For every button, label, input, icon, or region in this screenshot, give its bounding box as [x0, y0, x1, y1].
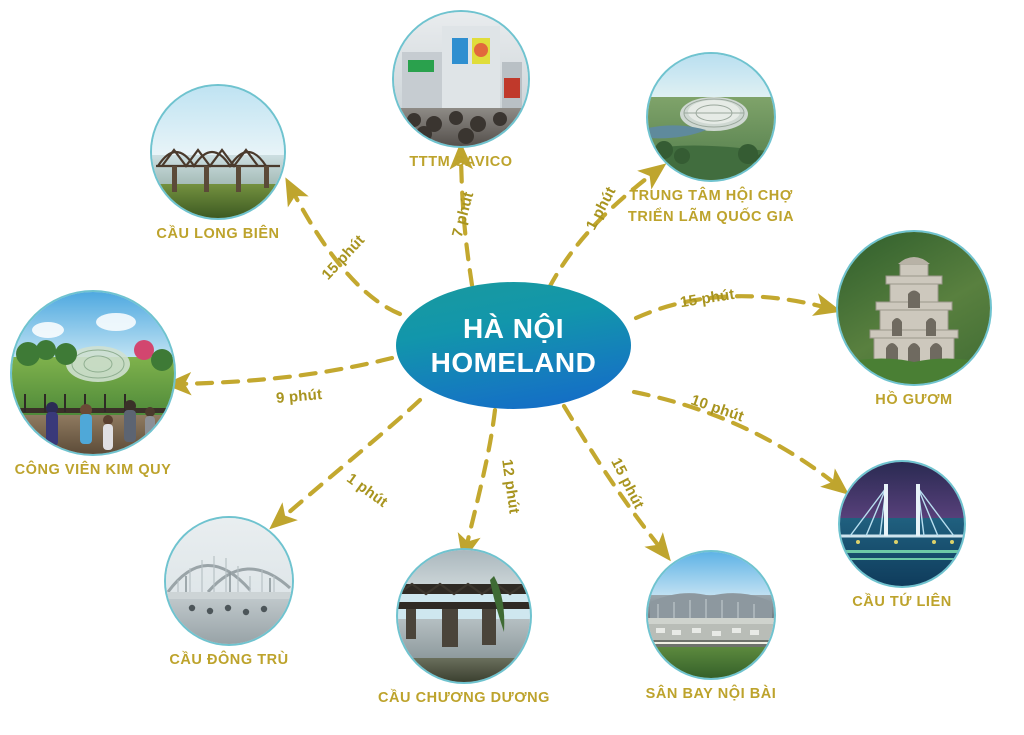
photo-tttm-savico[interactable] [394, 12, 528, 146]
photo-ho-guom[interactable] [838, 232, 990, 384]
arch-bridge-icon [166, 518, 292, 644]
exhibition-center-icon [648, 54, 774, 180]
label-trung-tam-hoi-cho: TRUNG TÂM HỘI CHỢ TRIỂN LÃM QUỐC GIA [628, 186, 794, 228]
mall-building-icon [394, 12, 528, 146]
label-cong-vien-kim-quy: CÔNG VIÊN KIM QUY [15, 460, 172, 481]
label-cau-long-bien: CẦU LONG BIÊN [156, 224, 279, 245]
turtle-tower-icon [838, 232, 990, 384]
label-san-bay-noi-bai: SÂN BAY NỘI BÀI [646, 684, 777, 705]
photo-san-bay-noi-bai[interactable] [648, 552, 774, 678]
photo-cau-chuong-duong[interactable] [398, 550, 530, 682]
photo-trung-tam-hoi-cho[interactable] [648, 54, 774, 180]
photo-cau-tu-lien[interactable] [840, 462, 964, 586]
label-line-1: TRUNG TÂM HỘI CHỢ [628, 186, 794, 207]
node-ho-guom[interactable]: HỒ GƯƠM [838, 232, 990, 384]
visitors [46, 400, 155, 450]
label-cau-dong-tru: CẦU ĐÔNG TRÙ [169, 650, 288, 671]
photo-cong-vien-kim-quy[interactable] [12, 292, 174, 454]
label-cau-tu-lien: CẦU TỨ LIÊN [852, 592, 951, 613]
node-cau-tu-lien[interactable]: CẦU TỨ LIÊN [840, 462, 964, 586]
label-ho-guom: HỒ GƯƠM [875, 390, 952, 411]
center-title-line-1: HÀ NỘI [463, 312, 564, 345]
node-cong-vien-kim-quy[interactable]: CÔNG VIÊN KIM QUY [12, 292, 174, 454]
label-tttm-savico: TTTM SAVICO [409, 152, 512, 173]
park-dome-icon [12, 292, 174, 454]
photo-cau-long-bien[interactable] [152, 86, 284, 218]
node-cau-long-bien[interactable]: CẦU LONG BIÊN [152, 86, 284, 218]
arrow-cong-vien-kim-quy [178, 358, 392, 384]
arrow-cau-dong-tru [280, 400, 420, 520]
photo-cau-dong-tru[interactable] [166, 518, 292, 644]
center-ellipse[interactable]: HÀ NỘI HOMELAND [396, 282, 631, 409]
node-tttm-savico[interactable]: TTTM SAVICO [394, 12, 528, 146]
node-san-bay-noi-bai[interactable]: SÂN BAY NỘI BÀI [648, 552, 774, 678]
node-trung-tam-hoi-cho[interactable]: TRUNG TÂM HỘI CHỢ TRIỂN LÃM QUỐC GIA [648, 54, 774, 180]
arrow-san-bay-noi-bai [564, 406, 662, 550]
label-cau-chuong-duong: CẦU CHƯƠNG DƯƠNG [378, 688, 550, 709]
label-line-2: TRIỂN LÃM QUỐC GIA [628, 207, 794, 228]
steel-bridge-icon [398, 550, 530, 682]
bridge-truss-icon [152, 86, 284, 218]
airport-terminal-icon [648, 552, 774, 678]
node-cau-chuong-duong[interactable]: CẦU CHƯƠNG DƯƠNG [398, 550, 530, 682]
center-title-line-2: HOMELAND [431, 346, 597, 379]
node-cau-dong-tru[interactable]: CẦU ĐÔNG TRÙ [166, 518, 292, 644]
cable-bridge-icon [840, 462, 964, 586]
arrow-cau-chuong-duong [466, 410, 495, 548]
infographic-canvas: 15 phút 7 phút 1 phút 15 phút 10 phút 15… [0, 0, 1024, 735]
center-node[interactable]: HÀ NỘI HOMELAND [396, 282, 631, 409]
